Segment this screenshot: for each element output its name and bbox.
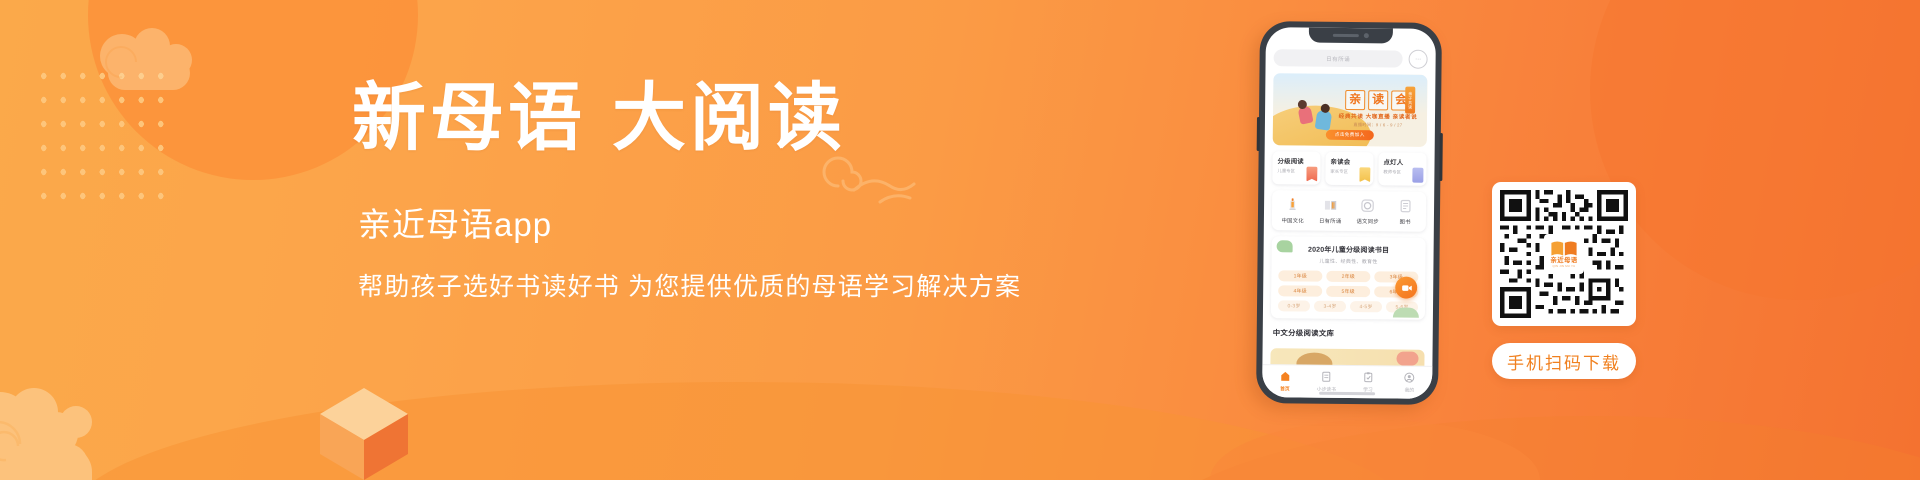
grade-chip[interactable]: 1年级 xyxy=(1278,270,1322,281)
message-icon[interactable]: ··· xyxy=(1409,50,1428,69)
hill-arc-decoration xyxy=(70,382,1410,480)
card-title: 点灯人 xyxy=(1383,157,1421,166)
grade-chip[interactable]: 2年级 xyxy=(1326,271,1370,282)
card-title: 分级阅读 xyxy=(1277,156,1315,165)
headline-part-2: 大阅读 xyxy=(612,78,846,160)
grade-chip[interactable]: 4年级 xyxy=(1278,285,1322,296)
library-illustration-1 xyxy=(1296,352,1332,365)
reading-icon xyxy=(1320,371,1332,383)
tab-profile[interactable]: 我的 xyxy=(1389,371,1431,393)
book-open-icon xyxy=(1323,198,1338,213)
booklist-title: 2020年儿童分级阅读书目 xyxy=(1279,244,1419,255)
phone-screen: 日有所诵 ··· 亲 读 会 亲子共读 经典共读 大咖直播 亲读者说 直播 xyxy=(1262,27,1436,399)
quick-entry-label: 语文同步 xyxy=(1356,217,1378,225)
quick-entry-chinese-culture[interactable]: 中国文化 xyxy=(1274,197,1312,224)
promo-date: 直播时间：9 / 6 - 9 / 27 xyxy=(1337,122,1419,129)
circle-decoration-right xyxy=(1590,0,1920,300)
dot-grid-decoration xyxy=(32,62,172,212)
phone-mockup: 日有所诵 ··· 亲 读 会 亲子共读 经典共读 大咖直播 亲读者说 直播 xyxy=(1256,21,1442,405)
leaf-decoration xyxy=(1277,240,1293,252)
books-icon xyxy=(1398,199,1413,214)
app-content: 日有所诵 ··· 亲 读 会 亲子共读 经典共读 大咖直播 亲读者说 直播 xyxy=(1262,27,1436,366)
promo-child-2 xyxy=(1315,110,1333,131)
card-title: 亲读会 xyxy=(1330,157,1368,166)
tab-label: 首页 xyxy=(1280,385,1290,392)
promo-title: 亲 读 会 xyxy=(1345,90,1411,111)
booklist-subtitle: 儿童性、经典性、教育性 xyxy=(1278,257,1418,265)
banner-copy: 新母语大阅读 亲近母语app 帮助孩子选好书读好书 为您提供优质的母语学习解决方… xyxy=(352,82,1052,300)
home-icon xyxy=(1279,370,1291,382)
quick-entry-row: 中国文化 日有所诵 语文同步 xyxy=(1272,190,1426,232)
bookmark-yellow-icon xyxy=(1359,167,1370,182)
category-card-reading-club[interactable]: 亲读会 家长专区 xyxy=(1325,152,1373,186)
tab-reading[interactable]: 小步读书 xyxy=(1306,371,1348,393)
headline-part-1: 新母语 xyxy=(352,78,586,160)
hill-arc-decoration-right xyxy=(1140,416,1920,480)
qr-center-logo: 亲近母语 QIN JIN MU YU xyxy=(1544,234,1584,274)
promo-subtitle: 经典共读 大咖直播 亲读者说 xyxy=(1337,112,1419,121)
grade-chip[interactable]: 5年级 xyxy=(1326,286,1370,297)
bookmark-red-icon xyxy=(1306,167,1317,182)
quick-entry-books[interactable]: 图书 xyxy=(1386,198,1424,225)
promo-card[interactable]: 亲 读 会 亲子共读 经典共读 大咖直播 亲读者说 直播时间：9 / 6 - 9… xyxy=(1273,73,1428,147)
age-chip[interactable]: 3-4岁 xyxy=(1314,301,1346,312)
leaf-decoration-bottom xyxy=(1393,307,1419,317)
app-name-subtitle: 亲近母语app xyxy=(358,208,1052,241)
booklist-card: 2020年儿童分级阅读书目 儿童性、经典性、教育性 1年级 2年级 3年级 4年… xyxy=(1271,236,1426,320)
bookmark-purple-icon xyxy=(1412,168,1423,183)
promo-title-char-2: 读 xyxy=(1368,90,1388,110)
qr-code-card: 亲近母语 QIN JIN MU YU xyxy=(1492,182,1636,326)
age-chip[interactable]: 0-3岁 xyxy=(1278,300,1310,311)
quick-entry-label: 日有所诵 xyxy=(1319,217,1341,225)
promo-title-char-1: 亲 xyxy=(1345,90,1365,110)
tab-study[interactable]: 学习 xyxy=(1347,371,1389,393)
phone-shadow-ellipse xyxy=(1210,420,1540,480)
auspicious-cloud-icon-top xyxy=(96,4,216,94)
category-card-lamplighter[interactable]: 点灯人 教师专区 xyxy=(1378,152,1426,186)
search-row: 日有所诵 ··· xyxy=(1274,48,1428,69)
profile-icon xyxy=(1403,372,1415,384)
quick-entry-textbook-sync[interactable]: 语文同步 xyxy=(1349,198,1387,225)
promo-banner: 新母语大阅读 亲近母语app 帮助孩子选好书读好书 为您提供优质的母语学习解决方… xyxy=(0,0,1920,480)
category-card-graded-reading[interactable]: 分级阅读 儿童专区 xyxy=(1272,151,1320,185)
promo-ribbon: 亲子共读 xyxy=(1405,87,1415,114)
quick-entry-label: 中国文化 xyxy=(1281,216,1303,224)
open-book-logo-icon xyxy=(1550,240,1578,257)
phone-notch xyxy=(1309,28,1393,44)
sync-icon xyxy=(1360,198,1375,213)
tab-home[interactable]: 首页 xyxy=(1264,370,1306,392)
quick-entry-label: 图书 xyxy=(1400,218,1411,226)
study-icon xyxy=(1362,371,1374,383)
search-input[interactable]: 日有所诵 xyxy=(1274,49,1403,67)
library-illustration-2 xyxy=(1396,352,1418,366)
library-banner[interactable] xyxy=(1270,348,1424,366)
page-title: 新母语大阅读 xyxy=(352,82,1052,156)
category-cards: 分级阅读 儿童专区 亲读会 家长专区 点灯人 教师专区 xyxy=(1272,151,1426,186)
quick-entry-daily-recitation[interactable]: 日有所诵 xyxy=(1311,198,1349,225)
download-button[interactable]: 手机扫码下载 xyxy=(1492,343,1636,379)
age-chip[interactable]: 4-5岁 xyxy=(1350,301,1382,312)
promo-join-button[interactable]: 点击免费加入 xyxy=(1326,130,1374,141)
qr-code-image: 亲近母语 QIN JIN MU YU xyxy=(1500,190,1628,318)
lantern-icon xyxy=(1285,197,1300,212)
banner-tagline: 帮助孩子选好书读好书 为您提供优质的母语学习解决方案 xyxy=(358,275,1052,300)
qr-logo-pinyin: QIN JIN MU YU xyxy=(1553,265,1576,268)
library-section-title: 中文分级阅读文库 xyxy=(1271,324,1425,340)
cube-shape-decoration xyxy=(318,384,410,480)
qr-download-block: 亲近母语 QIN JIN MU YU 手机扫码下载 xyxy=(1492,182,1636,379)
tab-label: 我的 xyxy=(1405,387,1415,394)
auspicious-cloud-icon xyxy=(0,360,182,480)
video-play-icon[interactable] xyxy=(1395,276,1417,298)
